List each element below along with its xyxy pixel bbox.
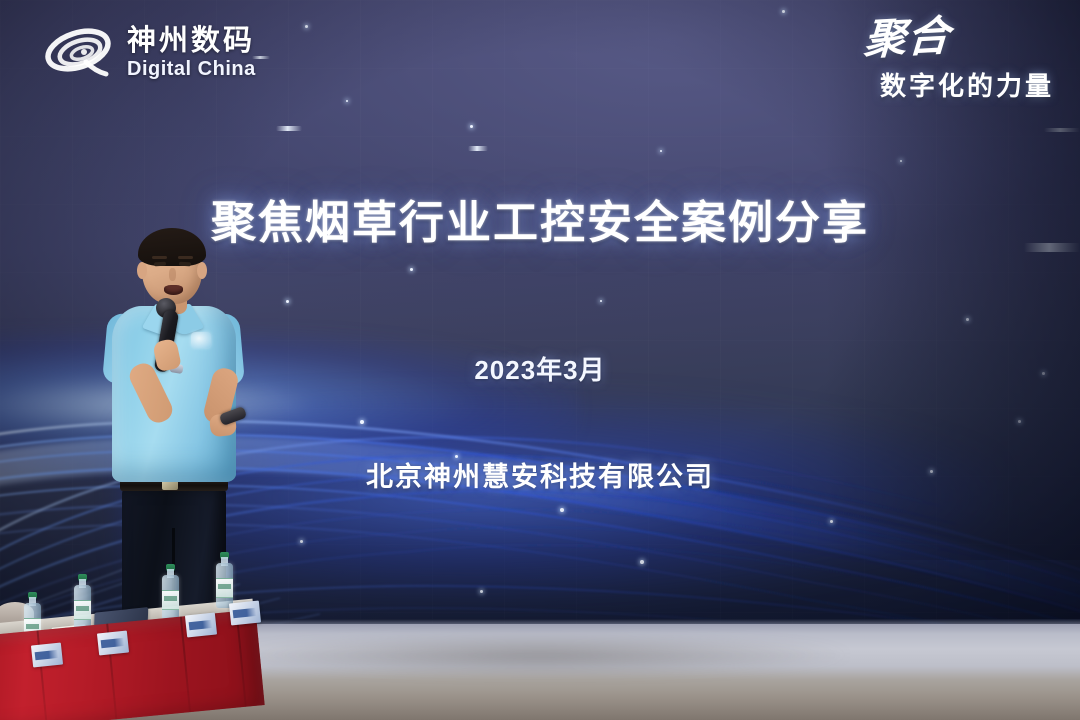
speaker-eye-right	[179, 262, 191, 267]
bottle-label	[162, 590, 179, 610]
speaker-mouth	[164, 285, 183, 295]
foreground-head-table	[0, 580, 265, 720]
speaker-ear-right	[197, 262, 207, 279]
light-streak	[1044, 128, 1080, 132]
sparkle-particle	[830, 520, 833, 523]
sparkle-particle	[305, 25, 308, 28]
sparkle-particle	[410, 268, 413, 271]
sparkle-particle	[480, 590, 483, 593]
name-placard	[97, 630, 129, 655]
water-bottle	[162, 564, 179, 620]
speaker-hair	[138, 228, 206, 266]
event-logo-calligraphy: 聚合	[863, 16, 952, 62]
sparkle-particle	[600, 300, 602, 302]
speaker-nose	[169, 268, 176, 281]
brand-logo-text: 神州数码 Digital China	[127, 27, 256, 79]
spiral-swirl-logo-icon	[44, 22, 118, 84]
name-placard	[31, 642, 63, 667]
bottle-label	[216, 578, 233, 598]
speaker-eyebrow-right	[178, 256, 193, 259]
sparkle-particle	[900, 160, 902, 162]
sparkle-particle	[470, 125, 473, 128]
sparkle-particle	[1018, 420, 1021, 423]
name-placard	[229, 600, 261, 625]
brand-logo: 神州数码 Digital China	[44, 22, 256, 84]
speaker-eye-left	[154, 262, 166, 267]
event-logo-tagline: 数字化的力量	[864, 66, 1054, 103]
speaker-eyebrow-left	[152, 256, 167, 259]
sparkle-particle	[966, 318, 969, 321]
name-placard	[185, 612, 217, 637]
sparkle-particle	[286, 300, 289, 303]
sparkle-particle	[360, 420, 364, 424]
sparkle-particle	[346, 100, 348, 102]
bottle-label	[74, 600, 91, 620]
skirt-pleat	[236, 611, 247, 707]
conference-stage-photo: 聚焦烟草行业工控安全案例分享 2023年3月 北京神州慧安科技有限公司 神州数码…	[0, 0, 1080, 720]
light-streak	[276, 126, 302, 131]
light-streak	[468, 146, 488, 151]
sparkle-particle	[660, 150, 662, 152]
water-bottle	[74, 574, 91, 630]
sparkle-particle	[560, 508, 564, 512]
stage-floor-shadow	[230, 634, 850, 676]
speaker-shirt-logo	[191, 332, 211, 348]
water-bottle	[216, 552, 233, 608]
brand-name-en: Digital China	[127, 59, 256, 79]
event-logo: 聚合 数字化的力量	[864, 18, 1054, 103]
speaker-ear-left	[137, 262, 147, 279]
sparkle-particle	[640, 560, 644, 564]
brand-name-cn: 神州数码	[127, 27, 256, 57]
sparkle-particle	[300, 540, 303, 543]
sparkle-particle	[782, 10, 785, 13]
